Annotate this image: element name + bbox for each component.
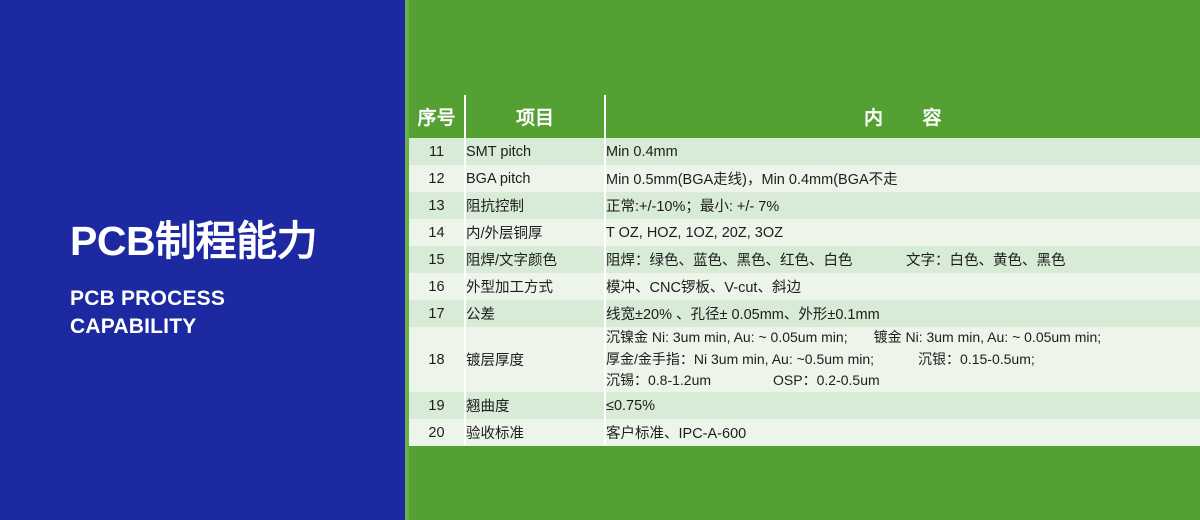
- row-content: 沉镍金 Ni: 3um min, Au: ~ 0.05um min;镀金 Ni:…: [605, 327, 1200, 392]
- row-content: 模冲、CNC锣板、V-cut、斜边: [605, 273, 1200, 300]
- plating-line-1: 沉镍金 Ni: 3um min, Au: ~ 0.05um min;镀金 Ni:…: [606, 327, 1200, 349]
- row-content: ≤0.75%: [605, 392, 1200, 419]
- page-subtitle-line1: PCB PROCESS: [70, 285, 400, 313]
- table-row: 11 SMT pitch Min 0.4mm: [409, 138, 1200, 165]
- plating-line-2-right: 沉银：0.15-0.5um;: [918, 351, 1035, 367]
- table-row: 15 阻焊/文字颜色 阻焊：绿色、蓝色、黑色、红色、白色 文字：白色、黄色、黑色: [409, 246, 1200, 273]
- row-content-legend-colors: 文字：白色、黄色、黑色: [906, 249, 1200, 270]
- table-row: 14 内/外层铜厚 T OZ, HOZ, 1OZ, 20Z, 3OZ: [409, 219, 1200, 246]
- column-header-no: 序号: [409, 95, 465, 138]
- row-content: T OZ, HOZ, 1OZ, 20Z, 3OZ: [605, 219, 1200, 246]
- row-item: 验收标准: [465, 419, 605, 446]
- row-content: 客户标准、IPC-A-600: [605, 419, 1200, 446]
- table-row: 20 验收标准 客户标准、IPC-A-600: [409, 419, 1200, 446]
- column-header-content: 内 容: [605, 95, 1200, 138]
- pcb-capability-table: 序号 项目 内 容 11 SMT pitch Min 0.4mm 12 BGA …: [409, 95, 1200, 446]
- table-row: 19 翘曲度 ≤0.75%: [409, 392, 1200, 419]
- title-block: PCB制程能力 PCB PROCESS CAPABILITY: [70, 218, 400, 341]
- row-item: 镀层厚度: [465, 327, 605, 392]
- table-row: 17 公差 线宽±20% 、孔径± 0.05mm、外形±0.1mm: [409, 300, 1200, 327]
- table-row: 13 阻抗控制 正常:+/-10%；最小: +/- 7%: [409, 192, 1200, 219]
- row-item: 阻抗控制: [465, 192, 605, 219]
- row-item: SMT pitch: [465, 138, 605, 165]
- row-no: 11: [409, 138, 465, 165]
- page-title-cn: PCB制程能力: [70, 218, 400, 265]
- row-item: 阻焊/文字颜色: [465, 246, 605, 273]
- row-no: 14: [409, 219, 465, 246]
- table-row: 12 BGA pitch Min 0.5mm(BGA走线)，Min 0.4mm(…: [409, 165, 1200, 192]
- plating-line-3-left: 沉锡：0.8-1.2um: [606, 372, 711, 388]
- row-content: 阻焊：绿色、蓝色、黑色、红色、白色 文字：白色、黄色、黑色: [605, 246, 1200, 273]
- row-item: 翘曲度: [465, 392, 605, 419]
- row-content: Min 0.4mm: [605, 138, 1200, 165]
- row-content: Min 0.5mm(BGA走线)，Min 0.4mm(BGA不走: [605, 165, 1200, 192]
- table-row: 16 外型加工方式 模冲、CNC锣板、V-cut、斜边: [409, 273, 1200, 300]
- row-content: 正常:+/-10%；最小: +/- 7%: [605, 192, 1200, 219]
- row-item: 公差: [465, 300, 605, 327]
- row-content-solder-colors: 阻焊：绿色、蓝色、黑色、红色、白色: [606, 249, 906, 270]
- row-content: 线宽±20% 、孔径± 0.05mm、外形±0.1mm: [605, 300, 1200, 327]
- left-blue-panel: PCB制程能力 PCB PROCESS CAPABILITY: [0, 0, 405, 520]
- plating-line-2-left: 厚金/金手指：Ni 3um min, Au: ~0.5um min;: [606, 351, 874, 367]
- plating-line-1-right: 镀金 Ni: 3um min, Au: ~ 0.05um min;: [874, 329, 1102, 345]
- page-subtitle-line2: CAPABILITY: [70, 313, 400, 341]
- slide-canvas: PCB制程能力 PCB PROCESS CAPABILITY 序号 项目 内 容: [0, 0, 1200, 520]
- plating-line-3: 沉锡：0.8-1.2umOSP：0.2-0.5um: [606, 370, 1200, 392]
- plating-line-3-right: OSP：0.2-0.5um: [773, 372, 880, 388]
- table-row: 18 镀层厚度 沉镍金 Ni: 3um min, Au: ~ 0.05um mi…: [409, 327, 1200, 392]
- row-no: 20: [409, 419, 465, 446]
- row-item: 外型加工方式: [465, 273, 605, 300]
- row-no: 12: [409, 165, 465, 192]
- row-item: 内/外层铜厚: [465, 219, 605, 246]
- plating-line-2: 厚金/金手指：Ni 3um min, Au: ~0.5um min;沉银：0.1…: [606, 349, 1200, 371]
- row-no: 16: [409, 273, 465, 300]
- page-subtitle-en: PCB PROCESS CAPABILITY: [70, 285, 400, 340]
- row-no: 18: [409, 327, 465, 392]
- row-no: 19: [409, 392, 465, 419]
- row-no: 13: [409, 192, 465, 219]
- row-no: 17: [409, 300, 465, 327]
- row-item: BGA pitch: [465, 165, 605, 192]
- spec-table-wrapper: 序号 项目 内 容 11 SMT pitch Min 0.4mm 12 BGA …: [409, 95, 1200, 446]
- plating-line-1-left: 沉镍金 Ni: 3um min, Au: ~ 0.05um min;: [606, 329, 848, 345]
- row-no: 15: [409, 246, 465, 273]
- table-header-row: 序号 项目 内 容: [409, 95, 1200, 138]
- column-header-item: 项目: [465, 95, 605, 138]
